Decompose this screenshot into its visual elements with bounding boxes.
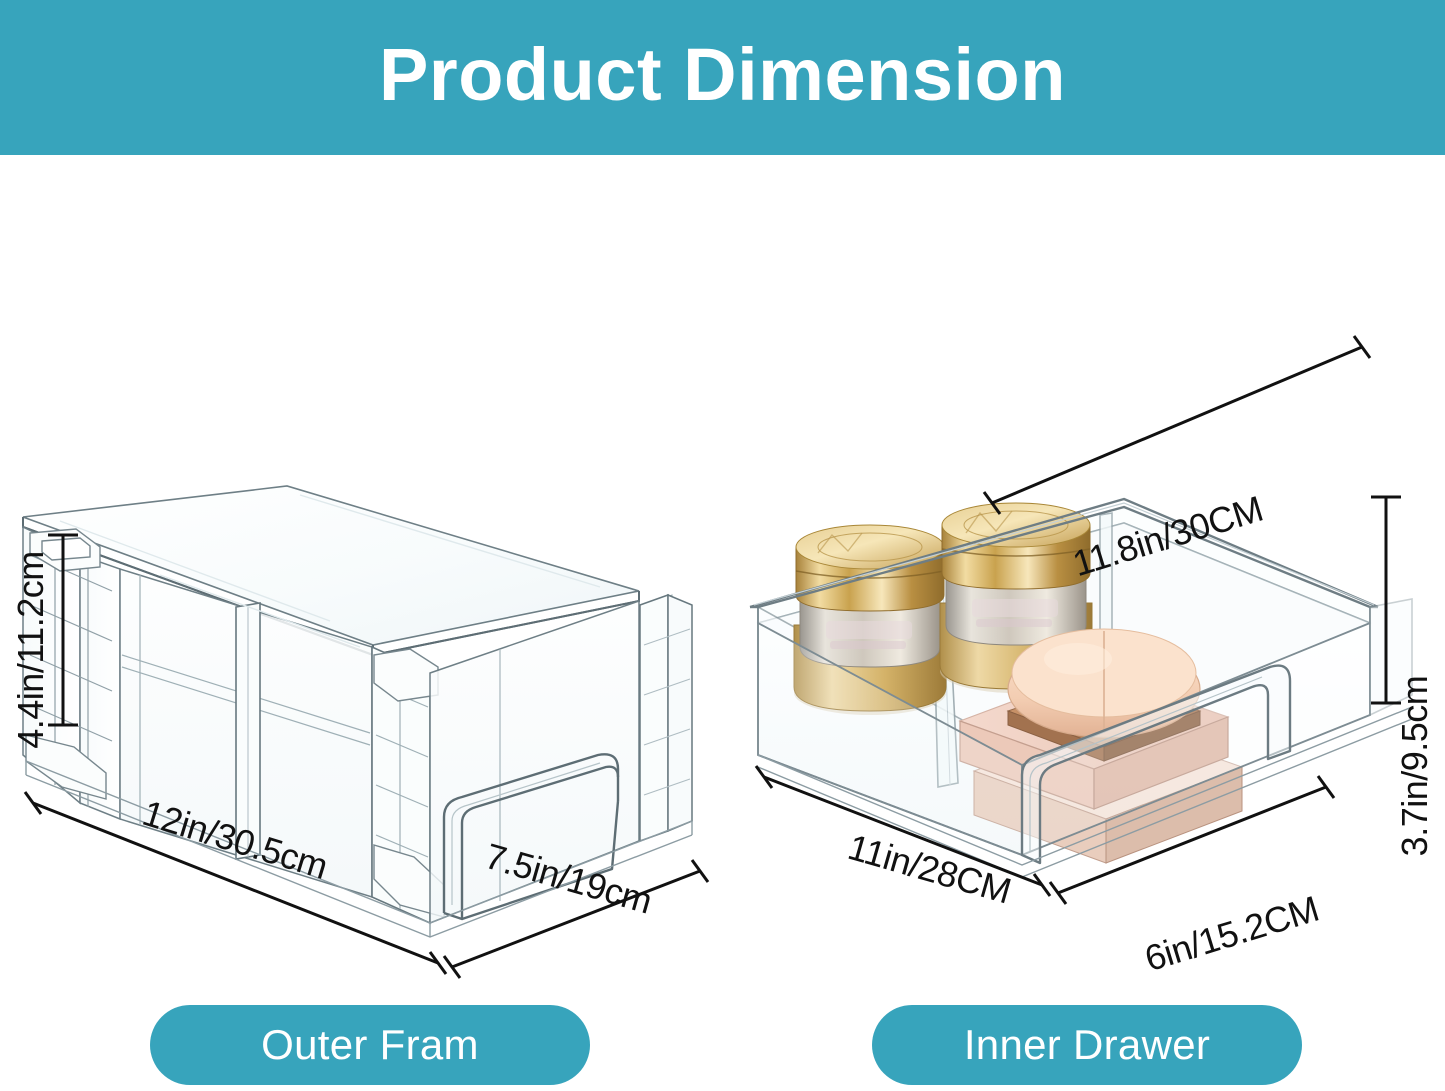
dim-tick-inner-depth-left (1050, 882, 1066, 904)
dimension-label-inner-height: 3.7in/9.5cm (1394, 641, 1436, 891)
dim-tick-width-right (430, 952, 446, 974)
dim-tick-width-left (25, 792, 41, 814)
product-dimension-infographic: Product Dimension (0, 0, 1445, 1091)
dim-tick-width-top-right (1354, 336, 1370, 358)
outer-frame-right-post (640, 595, 692, 841)
dim-tick-depth-left (444, 956, 460, 978)
page-title: Product Dimension (379, 38, 1066, 118)
dim-line-width-top (992, 347, 1362, 503)
header-banner: Product Dimension (0, 0, 1445, 155)
inner-drawer-pill-label[interactable]: Inner Drawer (872, 1005, 1302, 1085)
dim-tick-inner-width-right (1034, 874, 1050, 896)
dim-tick-depth-right (692, 860, 708, 882)
dim-tick-inner-depth-right (1318, 776, 1334, 798)
dimension-label-outer-height: 4.4in/11.2cm (10, 525, 52, 775)
outer-frame-pill-label[interactable]: Outer Fram (150, 1005, 590, 1085)
